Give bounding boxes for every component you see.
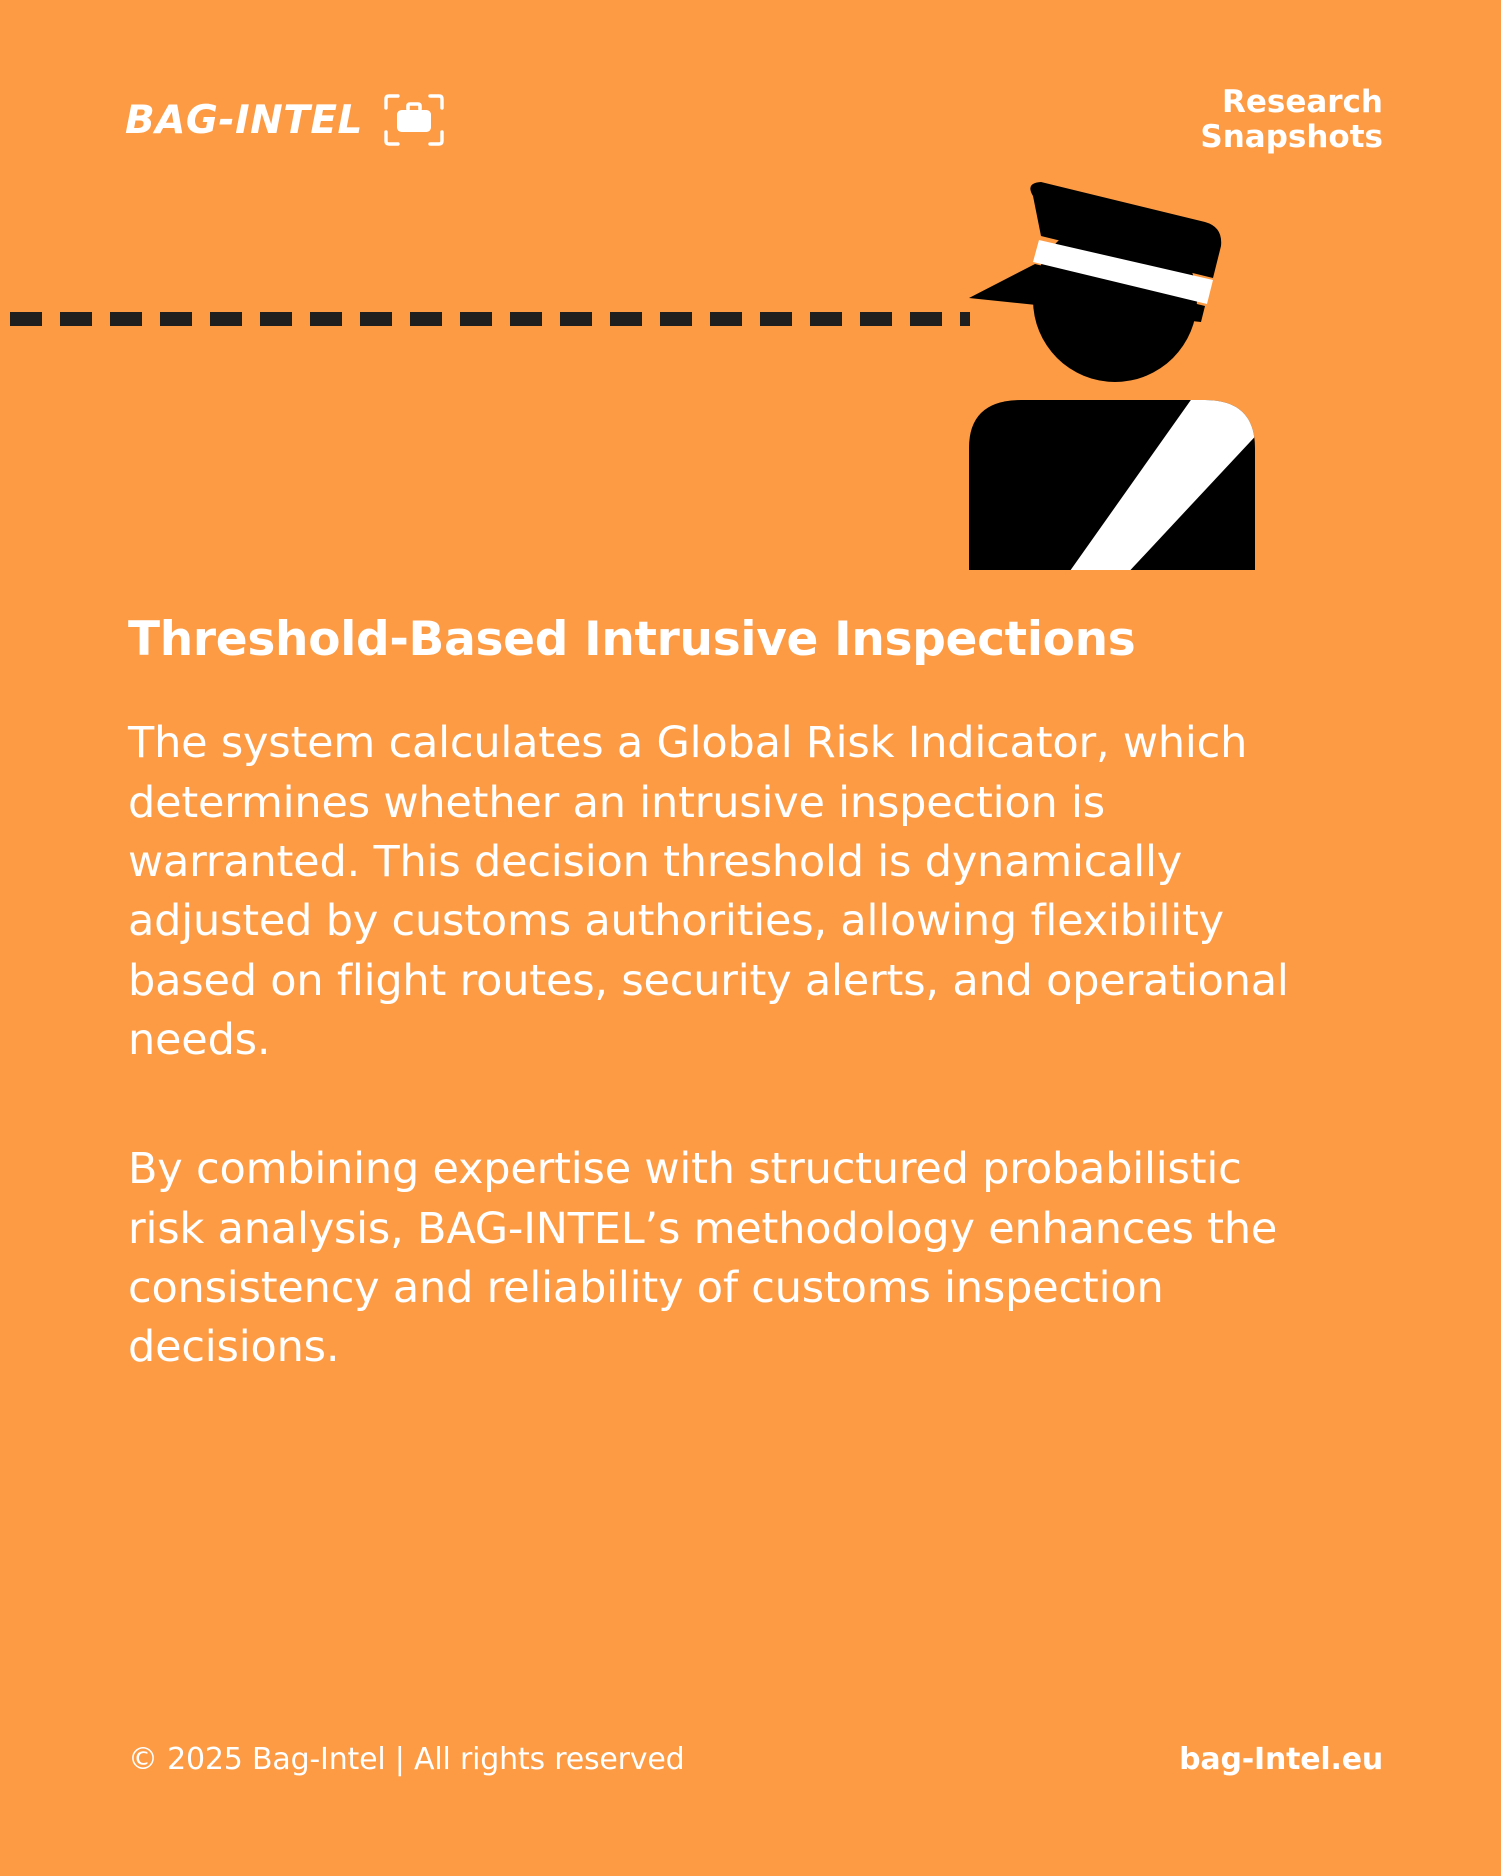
- footer: © 2025 Bag-Intel | All rights reserved b…: [128, 1737, 1383, 1781]
- main-content: Threshold-Based Intrusive Inspections Th…: [128, 612, 1303, 1378]
- page-title: Threshold-Based Intrusive Inspections: [128, 612, 1303, 668]
- brand-logo: BAG-INTEL: [125, 93, 445, 147]
- briefcase-scan-icon: [383, 93, 445, 147]
- customs-officer-icon: [955, 180, 1285, 580]
- snapshot-card: BAG-INTEL Research Snapshots: [0, 0, 1501, 1876]
- website-link[interactable]: bag-Intel.eu: [1179, 1742, 1383, 1777]
- body-paragraph-1: The system calculates a Global Risk Indi…: [128, 714, 1303, 1070]
- header: BAG-INTEL Research Snapshots: [125, 85, 1383, 165]
- body-paragraph-2: By combining expertise with structured p…: [128, 1140, 1303, 1377]
- copyright-text: © 2025 Bag-Intel | All rights reserved: [128, 1742, 684, 1777]
- brand-name: BAG-INTEL: [125, 101, 363, 140]
- section-kicker: Research Snapshots: [1200, 85, 1383, 154]
- dashed-divider: [10, 312, 970, 326]
